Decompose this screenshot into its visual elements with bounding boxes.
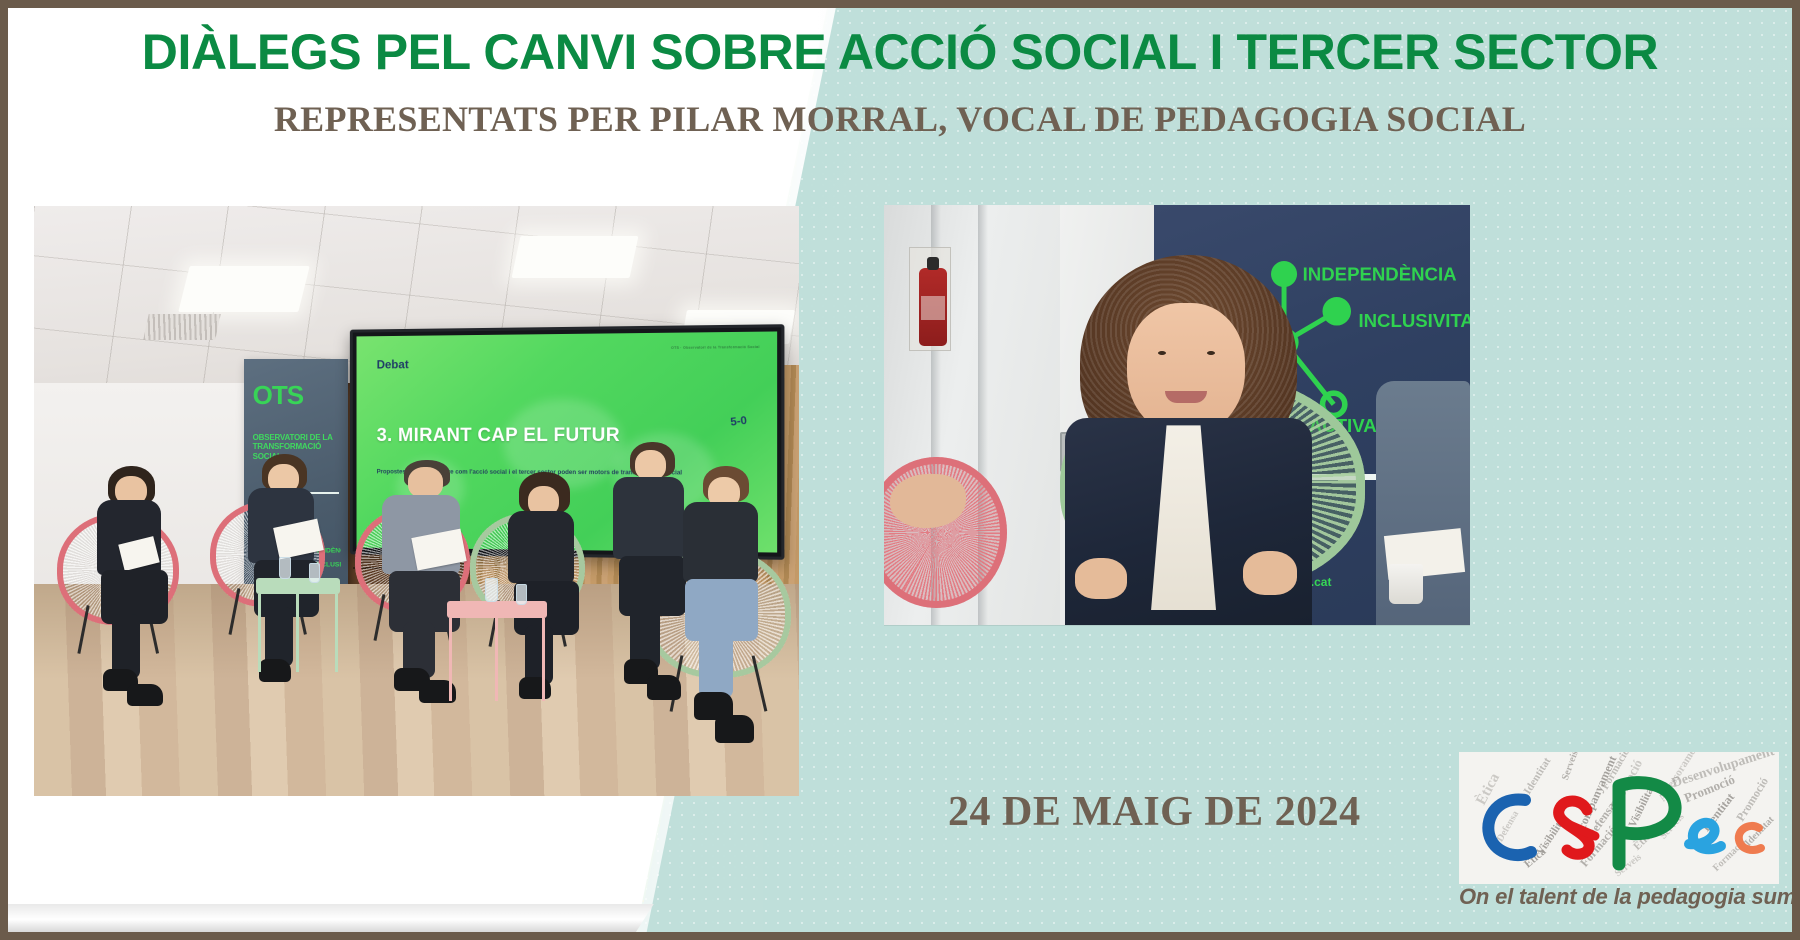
slide-section-label: Debat (376, 357, 408, 371)
slide-canvas: DIÀLEGS PEL CANVI SOBRE ACCIÓ SOCIAL I T… (8, 8, 1792, 932)
ceiling-light (512, 236, 639, 278)
ceiling-vent (143, 314, 221, 340)
coffee-cup (1389, 564, 1423, 604)
page-subtitle: REPRESENTATS PER PILAR MORRAL, VOCAL DE … (8, 101, 1792, 139)
speaker-portrait-photo: INDEPENDÈNCIA RIGOR INCLUSIVITAT DINAMIS… (884, 205, 1470, 625)
header: DIÀLEGS PEL CANVI SOBRE ACCIÓ SOCIAL I T… (8, 8, 1792, 138)
water-glass (516, 584, 527, 605)
ots-logo-text: OTS (253, 382, 340, 408)
node-label-independencia: INDEPENDÈNCIA (1303, 263, 1457, 284)
panel-participant (669, 466, 784, 749)
water-glass (279, 557, 291, 579)
speaker-figure (1060, 255, 1318, 625)
panel-debate-photo: OTS OBSERVATORI DE LA TRANSFORMACIÓ SOCI… (34, 206, 799, 796)
hand (1243, 551, 1297, 595)
copec-lettermark (1459, 752, 1779, 884)
logo-tagline: On el talent de la pedagogia suma! (1459, 884, 1779, 910)
side-table (256, 578, 340, 678)
slide-root: DIÀLEGS PEL CANVI SOBRE ACCIÓ SOCIAL I T… (0, 0, 1800, 940)
side-table (447, 601, 546, 707)
node-label-inclusivitat: INCLUSIVITAT (1358, 310, 1470, 331)
hand (1075, 558, 1127, 599)
face (1127, 303, 1246, 436)
copec-logo: ÈticaIdentitatServeisAcompanyamentPromoc… (1459, 752, 1779, 927)
water-glass (309, 563, 320, 583)
ceiling-light (178, 266, 309, 312)
event-date: 24 DE MAIG DE 2024 (948, 788, 1361, 836)
panel-participant (80, 466, 187, 714)
logo-wordcloud: ÈticaIdentitatServeisAcompanyamentPromoc… (1459, 752, 1779, 884)
page-title: DIÀLEGS PEL CANVI SOBRE ACCIÓ SOCIAL I T… (8, 26, 1792, 79)
water-glass (485, 578, 498, 602)
slide-corner-note: OTS · Observatori de la Transformació So… (671, 345, 760, 350)
slide-mark: 5-0 (729, 415, 747, 429)
fire-extinguisher-icon (919, 268, 947, 346)
